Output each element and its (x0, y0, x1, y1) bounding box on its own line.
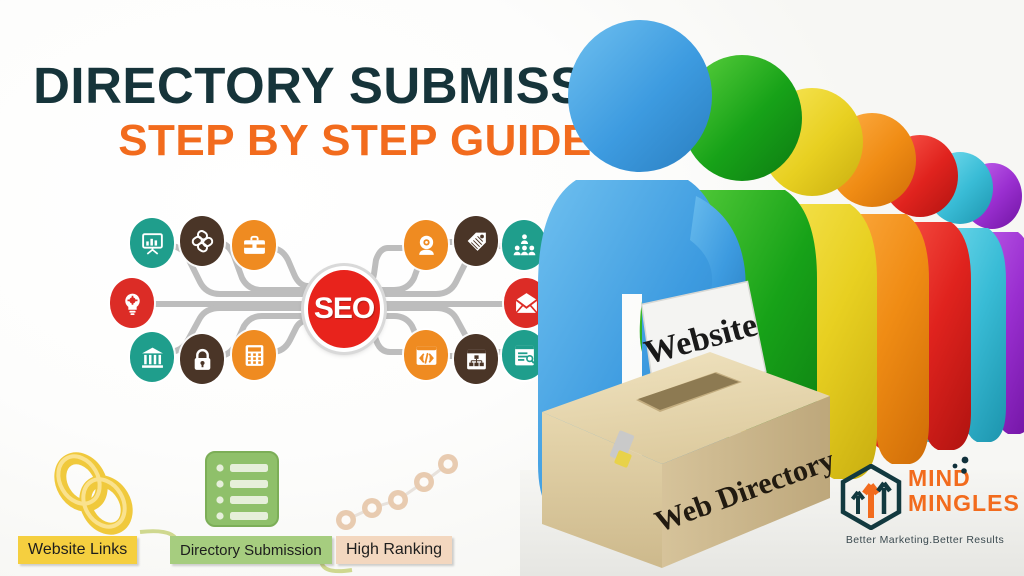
brand-logo[interactable]: MIND MINGLES Better Marketing.Better Res… (838, 462, 1014, 558)
bank-institution-icon[interactable] (130, 332, 174, 382)
seo-network-diagram: SEO (108, 216, 548, 384)
code-window-icon[interactable] (404, 330, 448, 380)
logo-tagline: Better Marketing.Better Results (834, 534, 1016, 546)
process-flow: Website Links Directory Submission High … (0, 440, 500, 576)
chain-link-icon (48, 452, 140, 540)
webcam-icon[interactable] (404, 220, 448, 270)
lightbulb-idea-icon[interactable] (110, 278, 154, 328)
sitemap-window-icon[interactable] (454, 334, 498, 384)
presentation-chart-icon[interactable] (130, 218, 174, 268)
hexagon-arrows-logo-icon (838, 464, 904, 530)
flow-label-website-links: Website Links (18, 536, 137, 564)
decorative-dots-icon (950, 455, 972, 477)
price-tag-icon[interactable] (454, 216, 498, 266)
flow-label-high-ranking: High Ranking (336, 536, 452, 564)
briefcase-icon[interactable] (232, 220, 276, 270)
flow-label-directory-submission: Directory Submission (170, 536, 332, 564)
ascending-rings-icon (332, 446, 458, 536)
calculator-icon[interactable] (232, 330, 276, 380)
list-document-icon (200, 448, 284, 532)
seo-center-badge: SEO (304, 266, 384, 352)
poster-canvas: DIRECTORY SUBMISSION STEP BY STEP GUIDE (0, 0, 1024, 576)
chain-links-icon[interactable] (180, 216, 224, 266)
padlock-icon[interactable] (180, 334, 224, 384)
logo-line-2: MINGLES (908, 491, 1020, 516)
seo-center-label: SEO (314, 292, 374, 326)
